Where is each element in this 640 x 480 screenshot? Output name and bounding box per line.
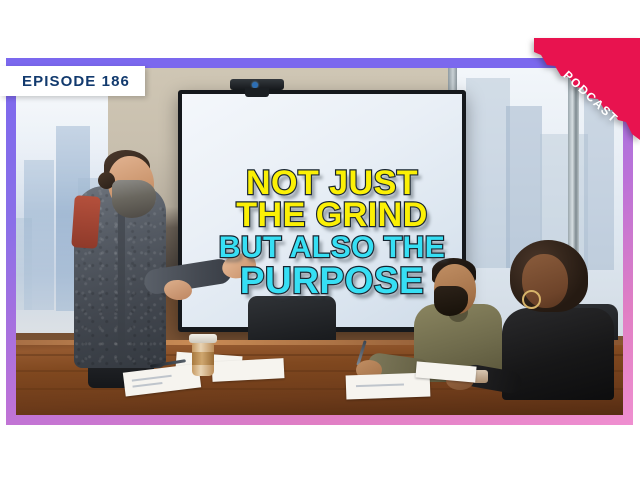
paper-line — [356, 383, 404, 387]
coffee-cup-lid — [189, 334, 217, 343]
episode-badge-label: EPISODE 186 — [0, 73, 130, 90]
paper-line — [132, 382, 162, 388]
scene-photo: NOT JUST THE GRIND BUT ALSO THE PURPOSE — [16, 68, 623, 415]
episode-badge: EPISODE 186 — [0, 66, 145, 96]
hoop-earring-icon — [522, 290, 541, 309]
title-line-1: NOT JUST — [184, 166, 480, 200]
thumbnail-canvas: NOT JUST THE GRIND BUT ALSO THE PURPOSE … — [0, 0, 640, 480]
title-line-4: PURPOSE — [184, 262, 480, 299]
paper-line — [132, 375, 172, 382]
document-paper — [212, 358, 285, 382]
episode-title: NOT JUST THE GRIND BUT ALSO THE PURPOSE — [184, 166, 480, 299]
coffee-cup-sleeve — [192, 352, 214, 365]
podcast-ribbon: PODCAST — [534, 38, 640, 140]
title-line-3: BUT ALSO THE — [184, 233, 480, 263]
presenter-shirt — [71, 195, 101, 249]
title-line-2: THE GRIND — [184, 198, 480, 232]
camera-mount — [245, 88, 269, 97]
